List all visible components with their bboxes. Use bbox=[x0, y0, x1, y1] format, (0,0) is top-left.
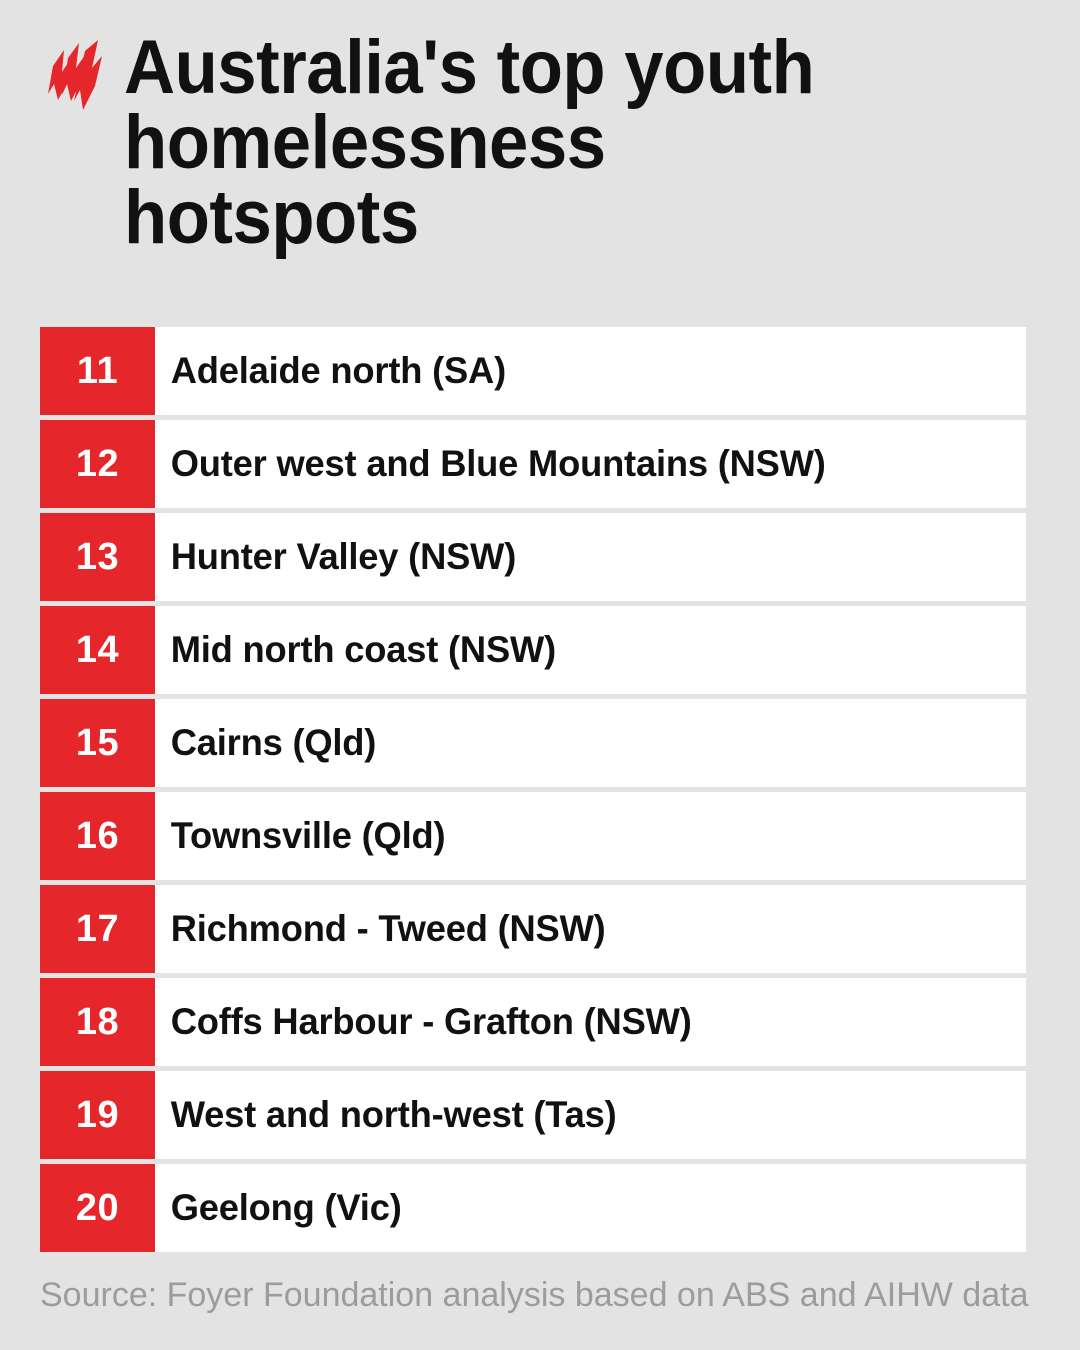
header: Australia's top youth homelessness hotsp… bbox=[0, 0, 1080, 318]
region-label: Coffs Harbour - Grafton (NSW) bbox=[155, 978, 1010, 1066]
infographic-card: Australia's top youth homelessness hotsp… bbox=[0, 0, 1080, 1350]
table-row: 19 West and north-west (Tas) bbox=[40, 1071, 1026, 1159]
sbs-flame-logo-icon bbox=[40, 38, 116, 118]
table-row: 11 Adelaide north (SA) bbox=[40, 327, 1026, 415]
hotspots-table: 11 Adelaide north (SA) 12 Outer west and… bbox=[40, 327, 1026, 1252]
table-row: 12 Outer west and Blue Mountains (NSW) bbox=[40, 420, 1026, 508]
region-label: Geelong (Vic) bbox=[155, 1164, 1010, 1252]
table-row: 16 Townsville (Qld) bbox=[40, 792, 1026, 880]
region-label: Cairns (Qld) bbox=[155, 699, 1010, 787]
region-label: West and north-west (Tas) bbox=[155, 1071, 1010, 1159]
region-label: Hunter Valley (NSW) bbox=[155, 513, 1010, 601]
region-label: Mid north coast (NSW) bbox=[155, 606, 1010, 694]
rank-badge: 19 bbox=[40, 1071, 155, 1159]
rank-badge: 17 bbox=[40, 885, 155, 973]
footer: Source: Foyer Foundation analysis based … bbox=[40, 1275, 1040, 1316]
page-title: Australia's top youth homelessness hotsp… bbox=[124, 30, 814, 256]
table-row: 17 Richmond - Tweed (NSW) bbox=[40, 885, 1026, 973]
rank-badge: 14 bbox=[40, 606, 155, 694]
region-label: Outer west and Blue Mountains (NSW) bbox=[155, 420, 1010, 508]
region-label: Townsville (Qld) bbox=[155, 792, 1010, 880]
table-row: 18 Coffs Harbour - Grafton (NSW) bbox=[40, 978, 1026, 1066]
rank-badge: 13 bbox=[40, 513, 155, 601]
rank-badge: 16 bbox=[40, 792, 155, 880]
region-label: Richmond - Tweed (NSW) bbox=[155, 885, 1010, 973]
table-row: 20 Geelong (Vic) bbox=[40, 1164, 1026, 1252]
rank-badge: 12 bbox=[40, 420, 155, 508]
source-note: Source: Foyer Foundation analysis based … bbox=[40, 1275, 1040, 1316]
table-row: 13 Hunter Valley (NSW) bbox=[40, 513, 1026, 601]
table-row: 15 Cairns (Qld) bbox=[40, 699, 1026, 787]
rank-badge: 18 bbox=[40, 978, 155, 1066]
rank-badge: 11 bbox=[40, 327, 155, 415]
rank-badge: 15 bbox=[40, 699, 155, 787]
region-label: Adelaide north (SA) bbox=[155, 327, 1010, 415]
table-row: 14 Mid north coast (NSW) bbox=[40, 606, 1026, 694]
rank-badge: 20 bbox=[40, 1164, 155, 1252]
